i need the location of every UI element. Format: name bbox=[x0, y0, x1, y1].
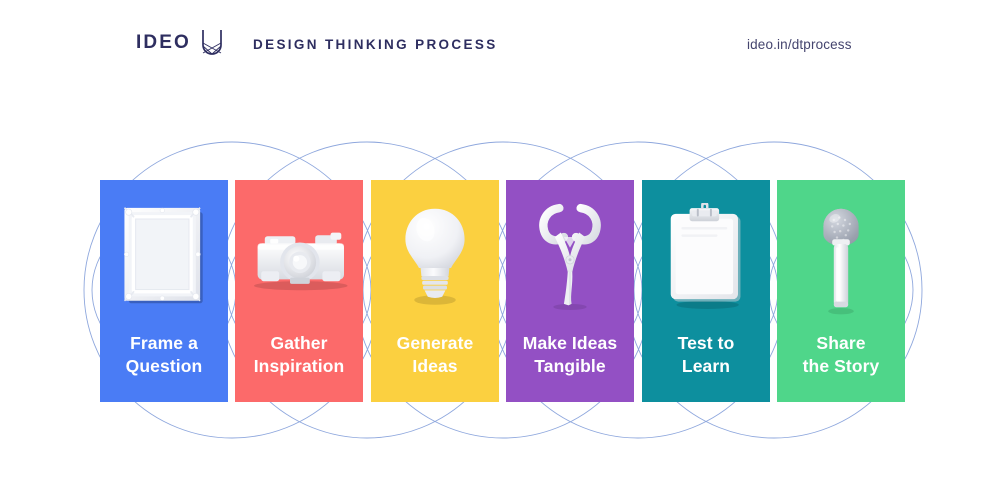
ideo-u-mark-icon bbox=[200, 29, 224, 56]
process-step-label: Test to Learn bbox=[642, 332, 770, 378]
clipboard-icon bbox=[642, 180, 770, 332]
microphone-icon bbox=[777, 180, 905, 332]
process-step-label: Gather Inspiration bbox=[235, 332, 363, 378]
ideo-wordmark: IDEO bbox=[136, 33, 191, 52]
site-url-link[interactable]: ideo.in/dtprocess bbox=[747, 37, 852, 52]
picture-frame-icon bbox=[100, 180, 228, 332]
page-title: DESIGN THINKING PROCESS bbox=[253, 37, 498, 52]
process-step-label: Frame a Question bbox=[100, 332, 228, 378]
process-step-card-3[interactable]: Generate Ideas bbox=[371, 180, 499, 402]
infographic-canvas: IDEO DESIGN THINKING PROCESS ideo.in/dtp… bbox=[0, 0, 1000, 500]
process-step-card-2[interactable]: Gather Inspiration bbox=[235, 180, 363, 402]
process-step-label: Share the Story bbox=[777, 332, 905, 378]
lightbulb-icon bbox=[371, 180, 499, 332]
header: IDEO DESIGN THINKING PROCESS ideo.in/dtp… bbox=[0, 0, 1000, 92]
camera-icon bbox=[235, 180, 363, 332]
ideo-logo[interactable]: IDEO bbox=[136, 29, 224, 56]
process-step-label: Generate Ideas bbox=[371, 332, 499, 378]
process-step-card-4[interactable]: Make Ideas Tangible bbox=[506, 180, 634, 402]
process-step-card-5[interactable]: Test to Learn bbox=[642, 180, 770, 402]
process-step-card-6[interactable]: Share the Story bbox=[777, 180, 905, 402]
scissors-icon bbox=[506, 180, 634, 332]
process-step-card-1[interactable]: Frame a Question bbox=[100, 180, 228, 402]
process-step-label: Make Ideas Tangible bbox=[506, 332, 634, 378]
